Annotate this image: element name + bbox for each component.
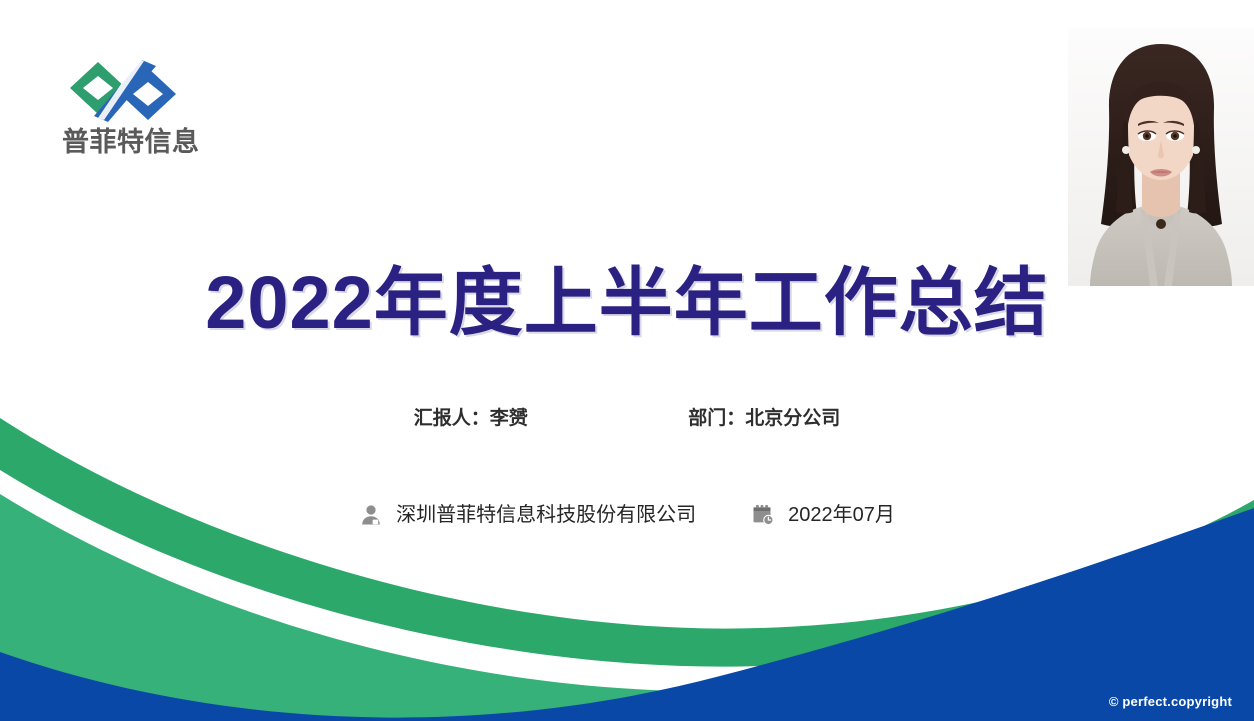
calendar-clock-icon [751,503,775,527]
company-info: 深圳普菲特信息科技股份有限公司 [359,503,696,527]
user-icon [359,503,383,527]
date-info: 2022年07月 [751,503,895,527]
company-logo: 普菲特信息 [62,58,212,158]
page-title: 2022年度上半年工作总结 [0,264,1254,342]
company-wordmark: 普菲特信息 [62,128,212,158]
presentation-slide: 普菲特信息 [0,0,1254,721]
company-name: 深圳普菲特信息科技股份有限公司 [396,503,696,527]
wave-green-lower [0,494,1254,721]
copyright-text: © perfect.copyright [1109,694,1232,709]
date-label: 2022年07月 [788,503,895,527]
portrait-photo [1068,28,1254,286]
reporter-label: 汇报人：李赟 [414,403,528,430]
wave-blue [0,508,1254,721]
info-row: 深圳普菲特信息科技股份有限公司 2022年07月 [0,503,1254,527]
wave-green-upper [0,418,1254,667]
infinity-diamond-logo-icon [68,58,180,124]
department-label: 部门：北京分公司 [688,403,840,430]
meta-row: 汇报人：李赟 部门：北京分公司 [0,403,1254,430]
